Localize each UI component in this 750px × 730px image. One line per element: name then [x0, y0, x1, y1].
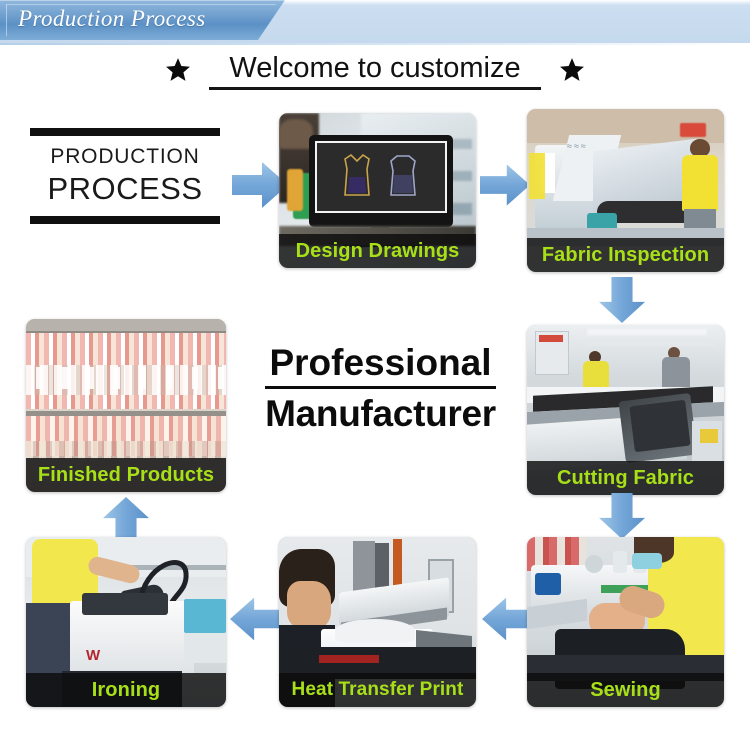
production-line-1: PRODUCTION [30, 145, 220, 169]
pm-line-2: Manufacturer [238, 389, 523, 439]
step-panel-cutting-fabric[interactable]: Cutting Fabric [527, 325, 724, 495]
caption-finished-products: Finished Products [26, 458, 226, 492]
cad-sketch-icon [383, 153, 423, 199]
step-panel-ironing[interactable]: W Workwear Ironing [26, 537, 226, 707]
arrow-heat-transfer-to-ironing [230, 592, 282, 646]
caption-heat-transfer-print: Heat Transfer Print [279, 673, 476, 707]
star-icon [559, 57, 585, 83]
caption-cutting-fabric: Cutting Fabric [527, 461, 724, 495]
header-divider [0, 43, 750, 45]
welcome-row: Welcome to customize [0, 48, 750, 92]
page-title: Production Process [18, 6, 206, 32]
page-header: Production Process [0, 0, 750, 44]
step-panel-sewing[interactable]: Sewing [527, 537, 724, 707]
production-line-2: PROCESS [30, 171, 220, 207]
star-icon [165, 57, 191, 83]
step-panel-fabric-inspection[interactable]: ≈≈≈ Fabric Inspection [527, 109, 724, 272]
step-panel-heat-transfer-print[interactable]: Heat Transfer Print [279, 537, 476, 707]
step-panel-finished-products[interactable]: Finished Products [26, 319, 226, 492]
bottom-rule [30, 216, 220, 224]
professional-manufacturer-text-block: Professional Manufacturer [238, 340, 523, 439]
pm-line-1: Professional [265, 340, 495, 389]
pm-line-1-wrap: Professional [238, 340, 523, 389]
caption-design-drawings: Design Drawings [279, 234, 476, 268]
caption-fabric-inspection: Fabric Inspection [527, 238, 724, 272]
arrow-fabric-to-cutting [596, 277, 648, 323]
caption-sewing: Sewing [527, 673, 724, 707]
step-panel-design-drawings[interactable]: Design Drawings [279, 113, 476, 268]
caption-ironing: Ironing [26, 673, 226, 707]
top-rule [30, 128, 220, 136]
production-process-text-block: PRODUCTION PROCESS [30, 128, 220, 224]
arrow-cutting-to-sewing [596, 493, 648, 539]
welcome-text: Welcome to customize [209, 51, 540, 90]
arrow-design-to-fabric [480, 158, 530, 212]
cad-sketch-icon [337, 153, 377, 199]
